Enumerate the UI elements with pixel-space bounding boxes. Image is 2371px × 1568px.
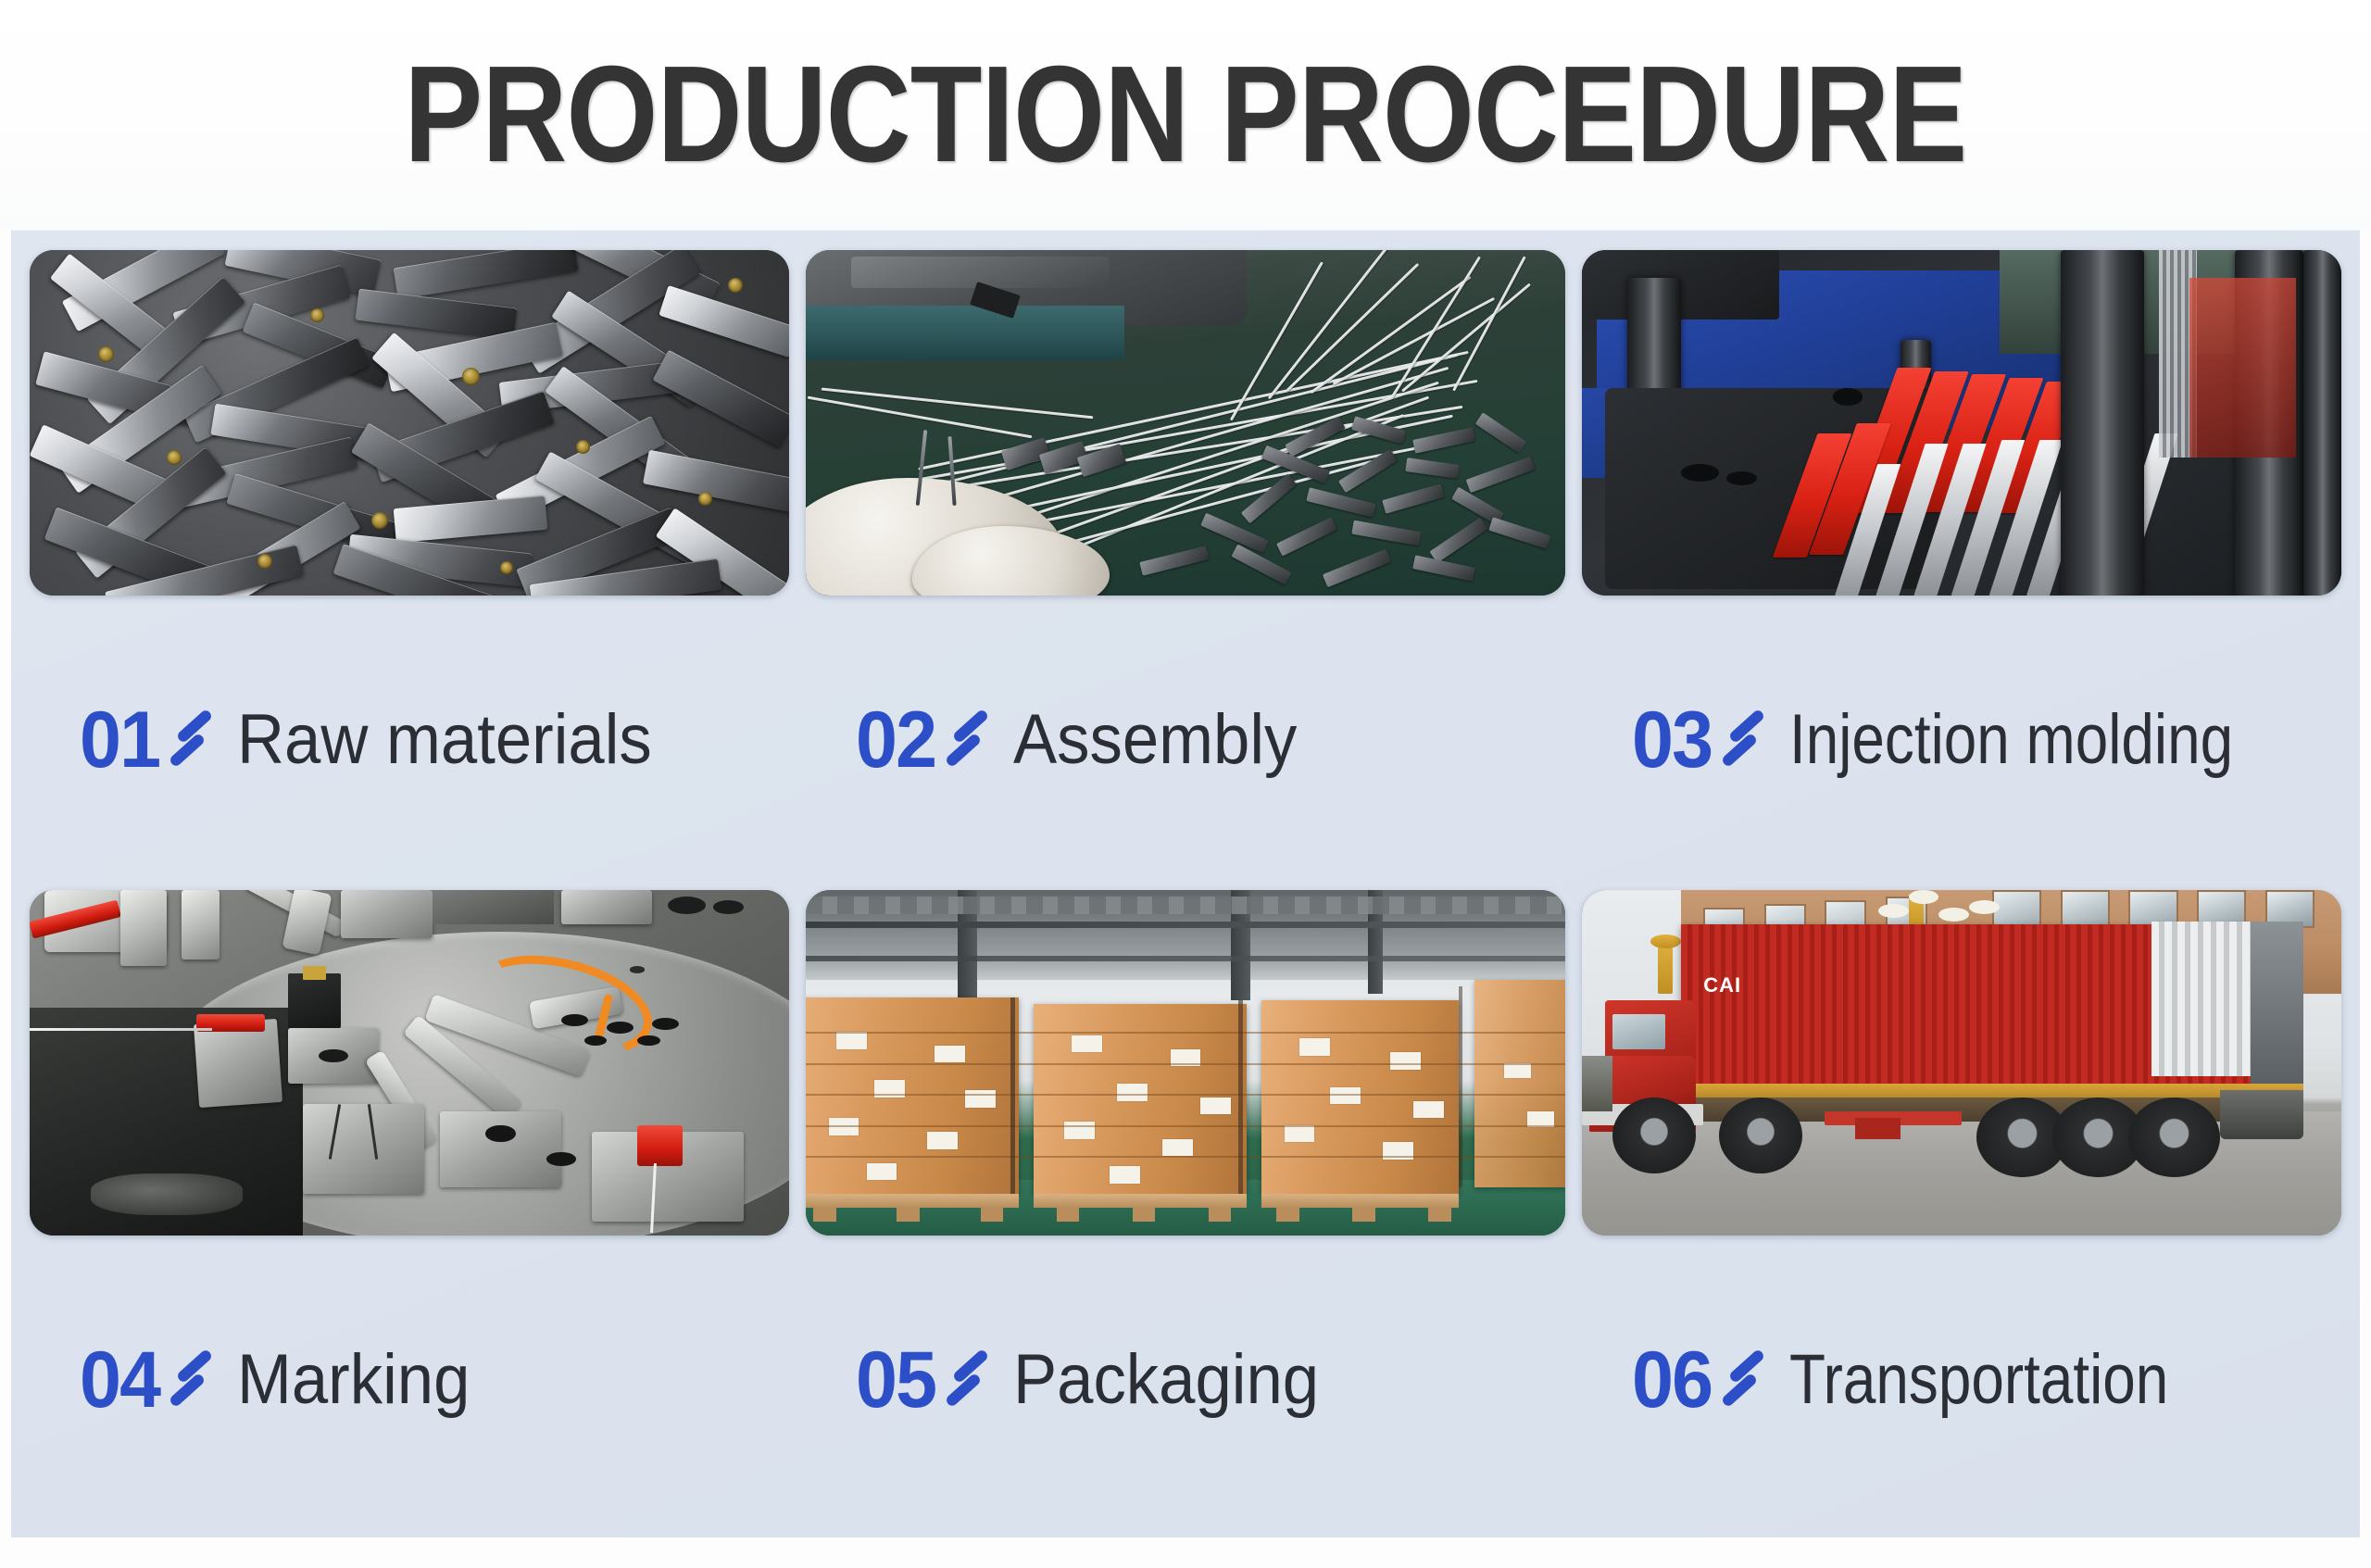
- steps-card: 01 Raw materials: [11, 230, 2360, 1537]
- double-slash-icon: [945, 1349, 993, 1411]
- step-number-01: 01: [80, 700, 159, 780]
- step-number-05: 05: [856, 1340, 935, 1420]
- double-slash-icon: [1721, 709, 1769, 771]
- step-card-01[interactable]: 01 Raw materials: [30, 250, 789, 884]
- step-photo-assembly[interactable]: [806, 250, 1565, 596]
- step-card-04[interactable]: 04 Marking: [30, 890, 789, 1524]
- step-number-02: 02: [856, 700, 935, 780]
- step-caption-01: 01 Raw materials: [30, 596, 789, 884]
- step-photo-raw-materials[interactable]: [30, 250, 789, 596]
- container-marking-text: CAI: [1703, 973, 1741, 997]
- step-caption-06: 06 Transportation: [1582, 1236, 2341, 1524]
- step-card-06[interactable]: CAI: [1582, 890, 2341, 1524]
- step-photo-injection-molding[interactable]: [1582, 250, 2341, 596]
- step-photo-packaging[interactable]: [806, 890, 1565, 1236]
- step-photo-transportation[interactable]: CAI: [1582, 890, 2341, 1236]
- double-slash-icon: [169, 1349, 217, 1411]
- step-number-06: 06: [1632, 1340, 1712, 1420]
- step-label-01: Raw materials: [237, 705, 652, 775]
- step-label-06: Transportation: [1789, 1345, 2168, 1415]
- step-card-02[interactable]: 02 Assembly: [806, 250, 1565, 884]
- step-photo-marking[interactable]: [30, 890, 789, 1236]
- steps-grid: 01 Raw materials: [11, 230, 2360, 1537]
- step-card-05[interactable]: 05 Packaging: [806, 890, 1565, 1524]
- step-label-03: Injection molding: [1789, 705, 2233, 775]
- step-caption-04: 04 Marking: [30, 1236, 789, 1524]
- step-number-04: 04: [80, 1340, 159, 1420]
- step-caption-03: 03 Injection molding: [1582, 596, 2341, 884]
- step-label-04: Marking: [237, 1345, 470, 1415]
- double-slash-icon: [945, 709, 993, 771]
- page-title: PRODUCTION PROCEDURE: [404, 46, 1966, 183]
- step-caption-05: 05 Packaging: [806, 1236, 1565, 1524]
- title-bar: PRODUCTION PROCEDURE: [0, 0, 2371, 230]
- infographic-page: PRODUCTION PROCEDURE: [0, 0, 2371, 1568]
- step-card-03[interactable]: 03 Injection molding: [1582, 250, 2341, 884]
- step-label-05: Packaging: [1013, 1345, 1319, 1415]
- step-caption-02: 02 Assembly: [806, 596, 1565, 884]
- step-label-02: Assembly: [1013, 705, 1297, 775]
- double-slash-icon: [169, 709, 217, 771]
- step-number-03: 03: [1632, 700, 1712, 780]
- double-slash-icon: [1721, 1349, 1769, 1411]
